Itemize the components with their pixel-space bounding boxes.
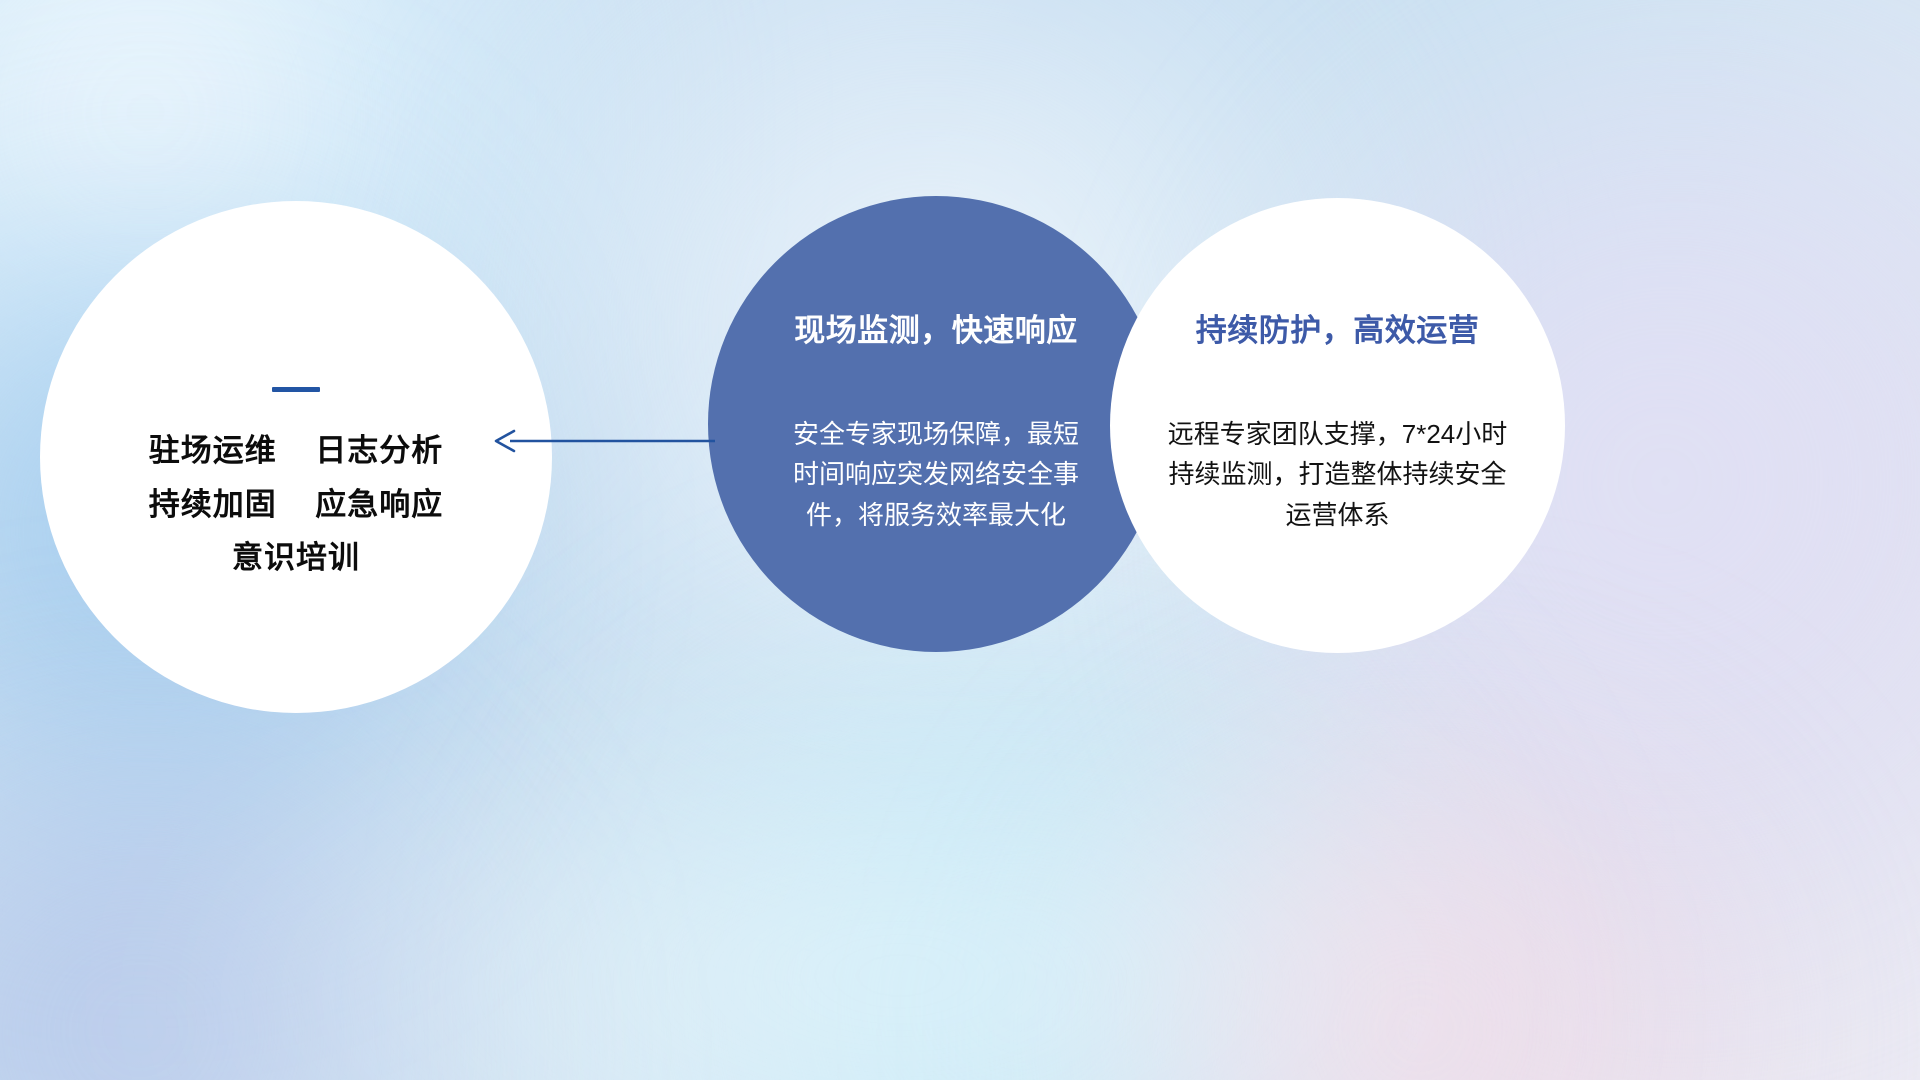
- middle-circle-body: 安全专家现场保障，最短时间响应突发网络安全事件，将服务效率最大化: [786, 414, 1086, 535]
- middle-circle-title: 现场监测，快速响应: [794, 305, 1078, 350]
- capability-line-2: 持续加固 应急响应: [149, 488, 443, 523]
- right-circle-content: 持续防护，高效运营 远程专家团队支撑，7*24小时持续监测，打造整体持续安全运营…: [1110, 198, 1565, 653]
- capability-line-1: 驻场运维 日志分析: [149, 434, 443, 469]
- right-circle-body: 远程专家团队支撑，7*24小时持续监测，打造整体持续安全运营体系: [1165, 414, 1510, 535]
- left-circle-capability-list: 驻场运维 日志分析 持续加固 应急响应 意识培训: [149, 434, 443, 576]
- right-circle-title: 持续防护，高效运营: [1196, 305, 1480, 350]
- left-circle-content: 驻场运维 日志分析 持续加固 应急响应 意识培训: [40, 201, 552, 713]
- capability-line-3: 意识培训: [232, 541, 360, 576]
- left-circle-divider: [272, 387, 320, 392]
- middle-circle-content: 现场监测，快速响应 安全专家现场保障，最短时间响应突发网络安全事件，将服务效率最…: [716, 196, 1156, 652]
- slide-canvas: 驻场运维 日志分析 持续加固 应急响应 意识培训 现场监测，快速响应 安全专家现…: [0, 0, 1920, 1080]
